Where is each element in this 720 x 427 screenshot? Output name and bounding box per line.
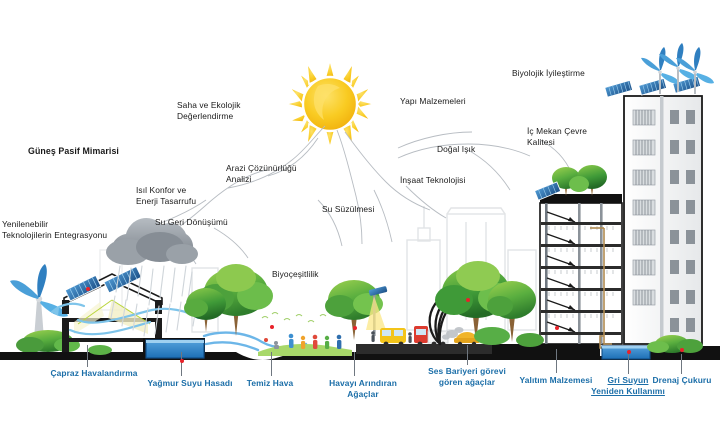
marker-dot-drenaj-cukuru bbox=[680, 348, 684, 352]
shrub bbox=[88, 345, 112, 355]
concept-label-ic-mekan-cevre-kalitesi: İç Mekan Çevre Kalitesi bbox=[527, 126, 587, 148]
leader-tick-drenaj-cukuru bbox=[681, 354, 682, 374]
concept-label-saha-ve-ekolojik-degerlendirme: Saha ve Ekolojik Değerlendirme bbox=[177, 100, 241, 122]
marker-dot-gri-suyun-yeniden-kullanimi bbox=[627, 350, 631, 354]
leader-tick-gri-suyun-yeniden-kullanimi bbox=[628, 354, 629, 374]
greywater-tank bbox=[602, 346, 650, 359]
sun-icon bbox=[286, 60, 374, 148]
concept-label-arazi-cozunurlugu-analizi: Arazi Çözünürlüğü Analizi bbox=[226, 163, 297, 185]
feature-label-capraz-havalandirma: Çapraz Havalandırma bbox=[39, 368, 149, 379]
marker-dot-ses-bariyeri-goren-agaclar bbox=[466, 298, 470, 302]
leader-tick-temiz-hava bbox=[271, 352, 272, 376]
concept-label-biyocesitlilik: Biyoçeşitlilik bbox=[272, 269, 319, 280]
feature-label-drenaj-cukuru: Drenaj Çukuru bbox=[644, 375, 720, 386]
road-traffic-group bbox=[371, 326, 480, 346]
concept-label-isil-konfor-ve-enerji-tasarrufu: Isıl Konfor ve Enerji Tasarrufu bbox=[136, 185, 196, 207]
concept-label-insaat-teknolojisi: İnşaat Teknolojisi bbox=[400, 175, 465, 186]
infographic-canvas: Güneş Pasif MimarisiYenilenebilir Teknol… bbox=[0, 0, 720, 427]
leaves-decor bbox=[262, 313, 326, 323]
concept-label-su-geri-donusumu: Su Geri Dönüşümü bbox=[155, 217, 228, 228]
marker-dot-yagmur-suyu-hasadi bbox=[180, 359, 184, 363]
marker-dot-yalitim-malzemesi bbox=[555, 326, 559, 330]
shrub bbox=[16, 337, 44, 353]
leader-tick-yalitim-malzemesi bbox=[556, 349, 557, 373]
tree bbox=[184, 288, 226, 332]
leader-tick-havayi-arindiran-agaclar bbox=[354, 352, 355, 376]
marker-dot-temiz-hava bbox=[270, 325, 274, 329]
leader-tick-capraz-havalandirma bbox=[87, 345, 88, 367]
feature-label-ses-bariyeri-goren-agaclar: Ses Bariyeri görevi gören ağaçlar bbox=[417, 366, 517, 387]
concept-label-yapi-malzemeleri: Yapı Malzemeleri bbox=[400, 96, 466, 107]
feature-label-havayi-arindiran-agaclar: Havayı Arındıran Ağaçlar bbox=[317, 378, 409, 399]
marker-dot-capraz-havalandirma bbox=[86, 287, 90, 291]
bus bbox=[380, 328, 406, 346]
leader-tick-ses-bariyeri-goren-agaclar bbox=[467, 345, 468, 365]
concept-label-gunes-pasif-mimarisi: Güneş Pasif Mimarisi bbox=[28, 146, 119, 157]
green-roof-building bbox=[535, 165, 622, 348]
concept-label-su-suzulmesi: Su Süzülmesi bbox=[322, 204, 374, 215]
road-surface bbox=[356, 344, 492, 354]
shrub bbox=[474, 327, 510, 345]
concept-label-yenilenebilir-teknolojilerin-entegrasyonu: Yenilenebilir Teknolojilerin Entegrasyon… bbox=[2, 219, 107, 241]
leader-tick-yagmur-suyu-hasadi bbox=[181, 352, 182, 376]
feature-label-temiz-hava: Temiz Hava bbox=[237, 378, 303, 389]
marker-dot-havayi-arindiran-agaclar bbox=[353, 326, 357, 330]
concept-label-biyolojik-iyilestirme: Biyolojik İyileştirme bbox=[512, 68, 585, 79]
concept-label-dogal-isik: Doğal Işık bbox=[437, 144, 475, 155]
shrub bbox=[516, 333, 544, 347]
rainwater-harvest-tank bbox=[146, 340, 204, 358]
feature-label-yagmur-suyu-hasadi: Yağmur Suyu Hasadı bbox=[135, 378, 245, 389]
